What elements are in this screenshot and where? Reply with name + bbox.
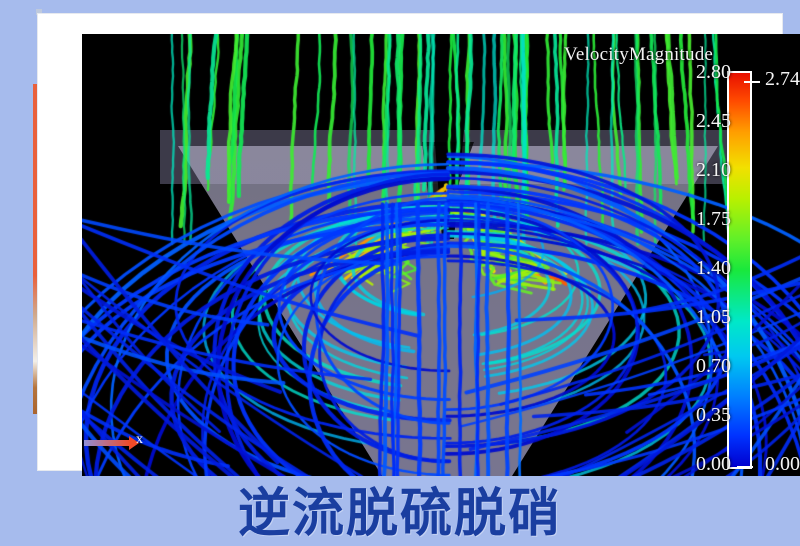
streamline-field (82, 34, 800, 476)
slide-canvas: VelocityMagnitude 2.80 2.45 2.10 1.75 1.… (0, 0, 800, 542)
slide-caption: 逆流脱硫脱硝 (0, 474, 800, 542)
render-viewport[interactable]: VelocityMagnitude 2.80 2.45 2.10 1.75 1.… (82, 34, 800, 476)
x-axis-arrow-icon (84, 440, 130, 446)
x-axis-label: x (136, 432, 143, 448)
orientation-axis-widget: x (84, 428, 164, 458)
picture-frame: VelocityMagnitude 2.80 2.45 2.10 1.75 1.… (38, 14, 782, 470)
